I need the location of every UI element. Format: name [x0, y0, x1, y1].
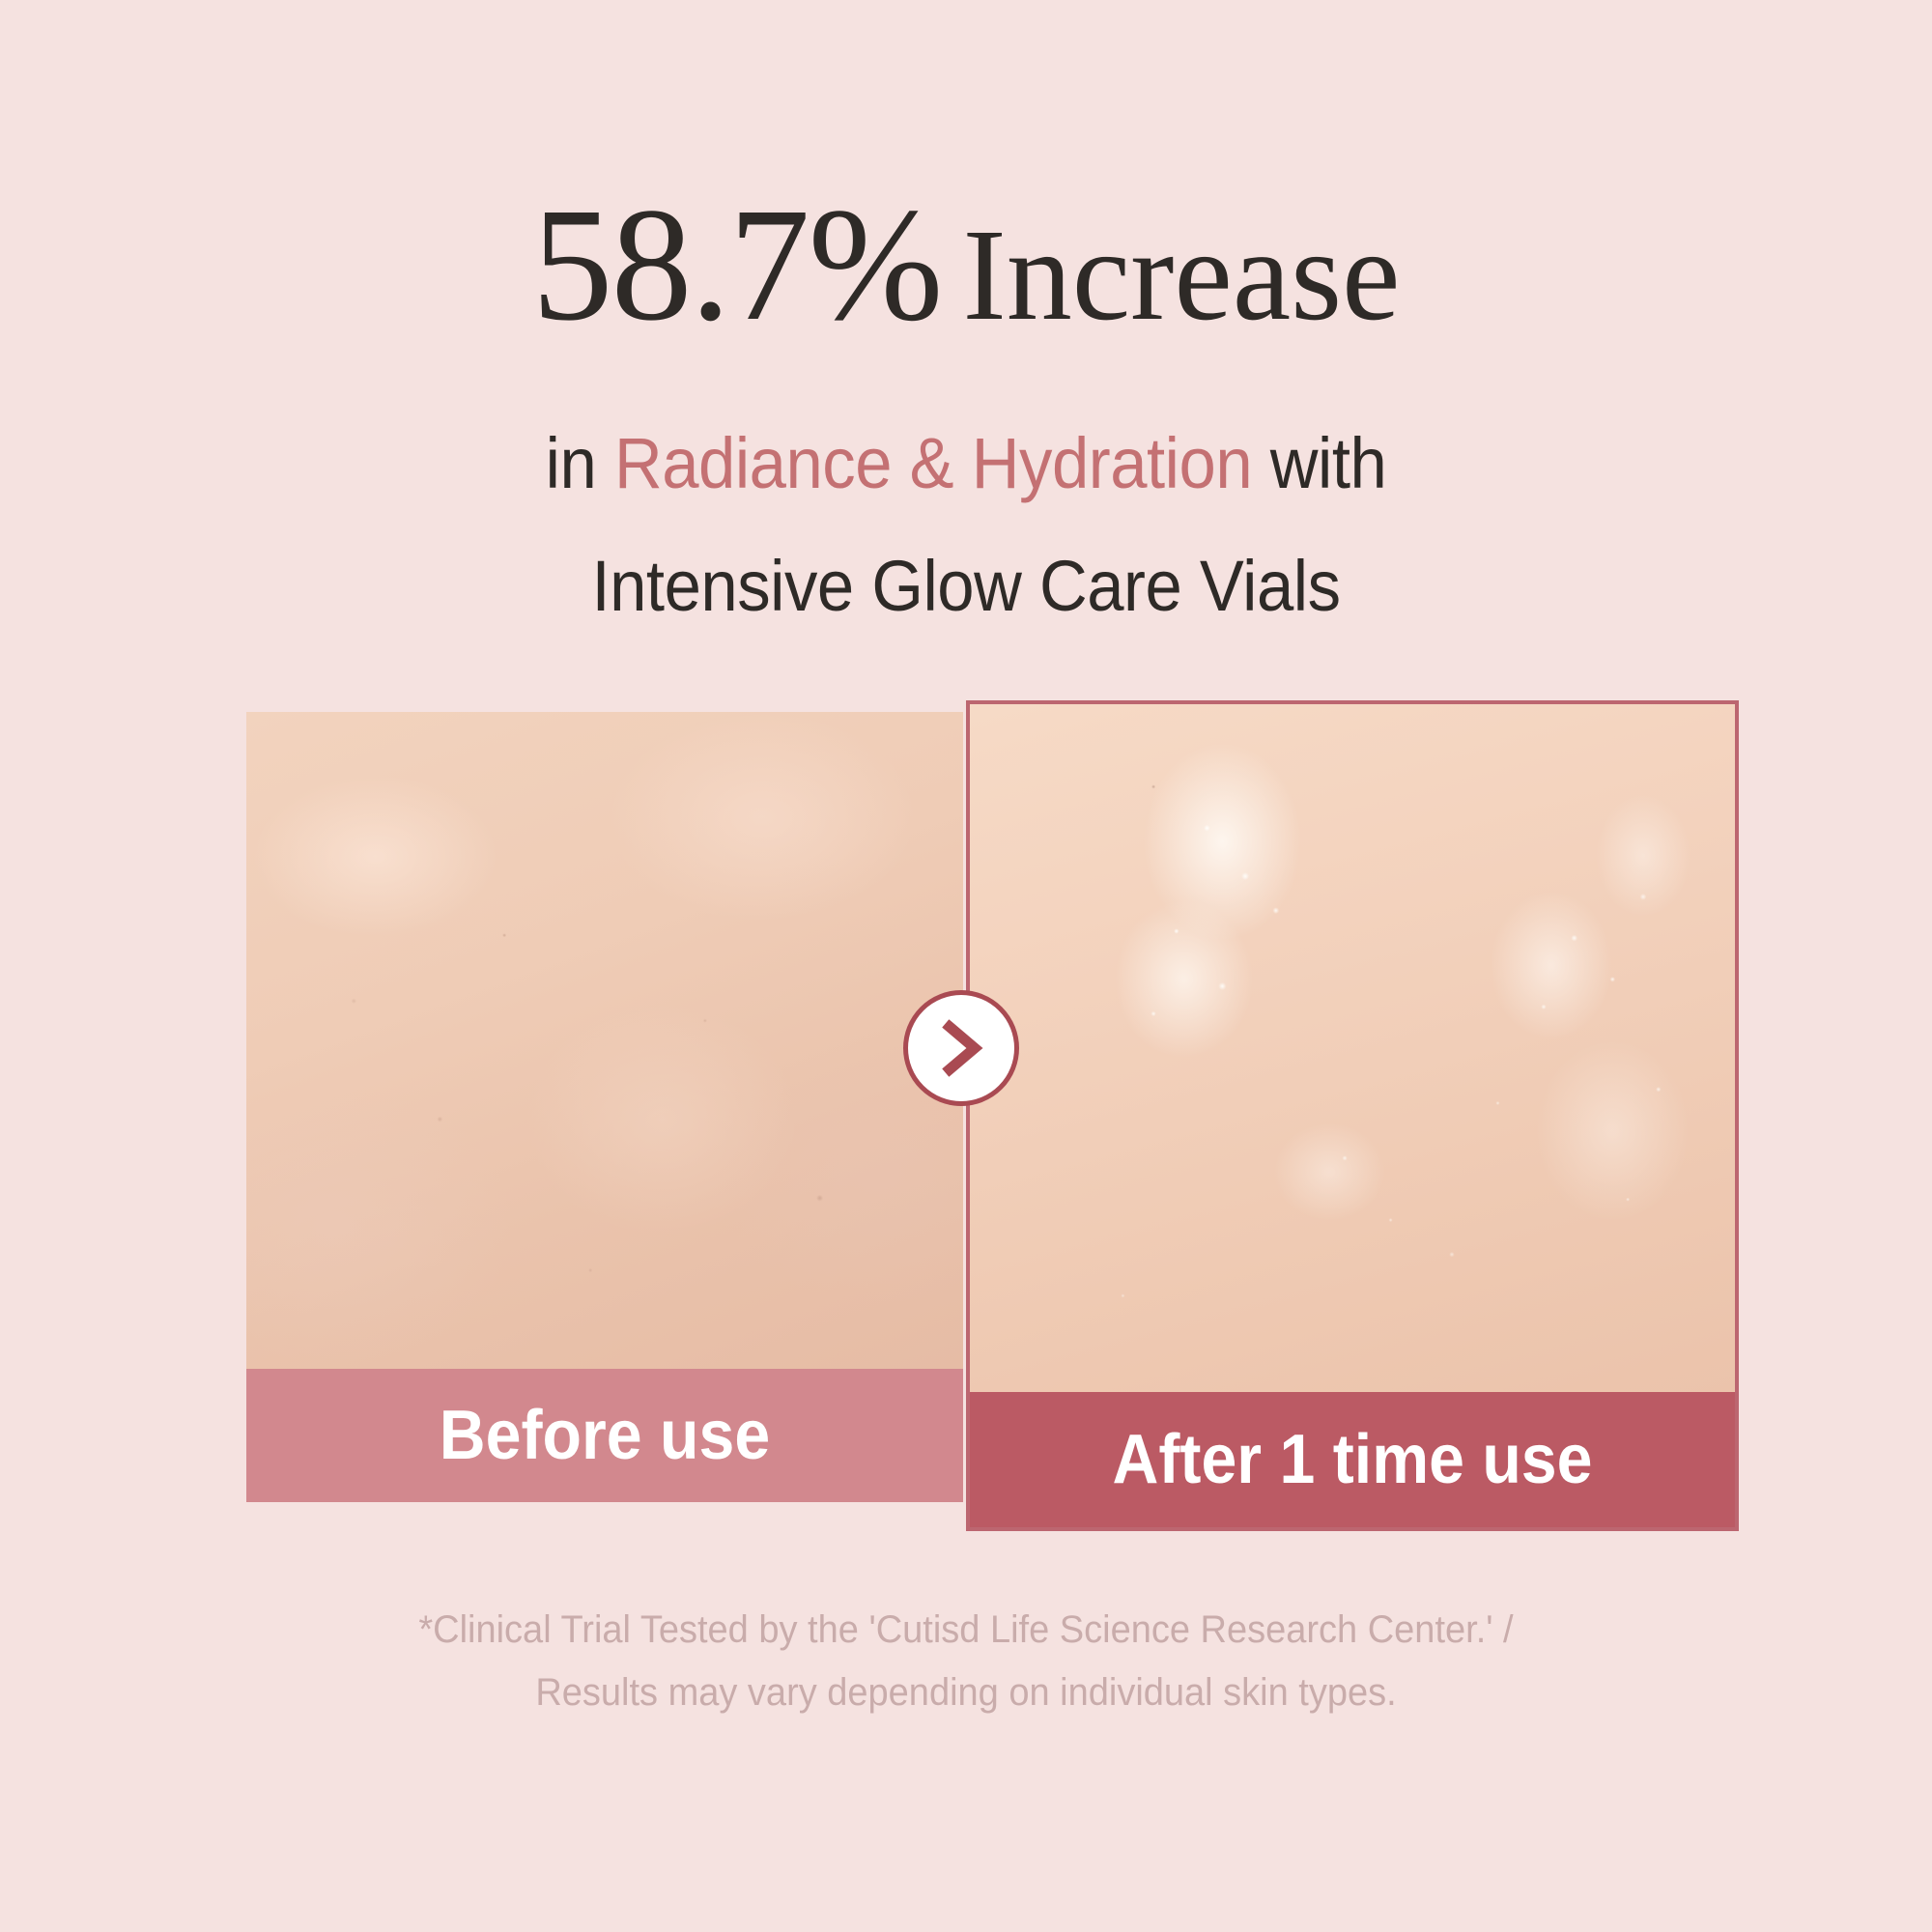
- after-skin-image: [970, 704, 1735, 1392]
- before-label-text: Before use: [275, 1369, 935, 1502]
- promo-banner: 58.7%Increase in Radiance & Hydration wi…: [0, 0, 1932, 1932]
- chevron-right-icon: [903, 990, 1019, 1106]
- disclaimer: *Clinical Trial Tested by the 'Cutisd Li…: [0, 1599, 1932, 1724]
- before-label-bar: Before use: [246, 1369, 963, 1502]
- disclaimer-line-1: *Clinical Trial Tested by the 'Cutisd Li…: [48, 1599, 1884, 1662]
- before-panel: Before use: [246, 712, 963, 1502]
- disclaimer-line-2: Results may vary depending on individual…: [48, 1662, 1884, 1724]
- after-panel: After 1 time use: [966, 700, 1739, 1531]
- before-skin-image: [246, 712, 963, 1369]
- after-label-text: After 1 time use: [1001, 1392, 1705, 1527]
- after-label-bar: After 1 time use: [970, 1392, 1735, 1527]
